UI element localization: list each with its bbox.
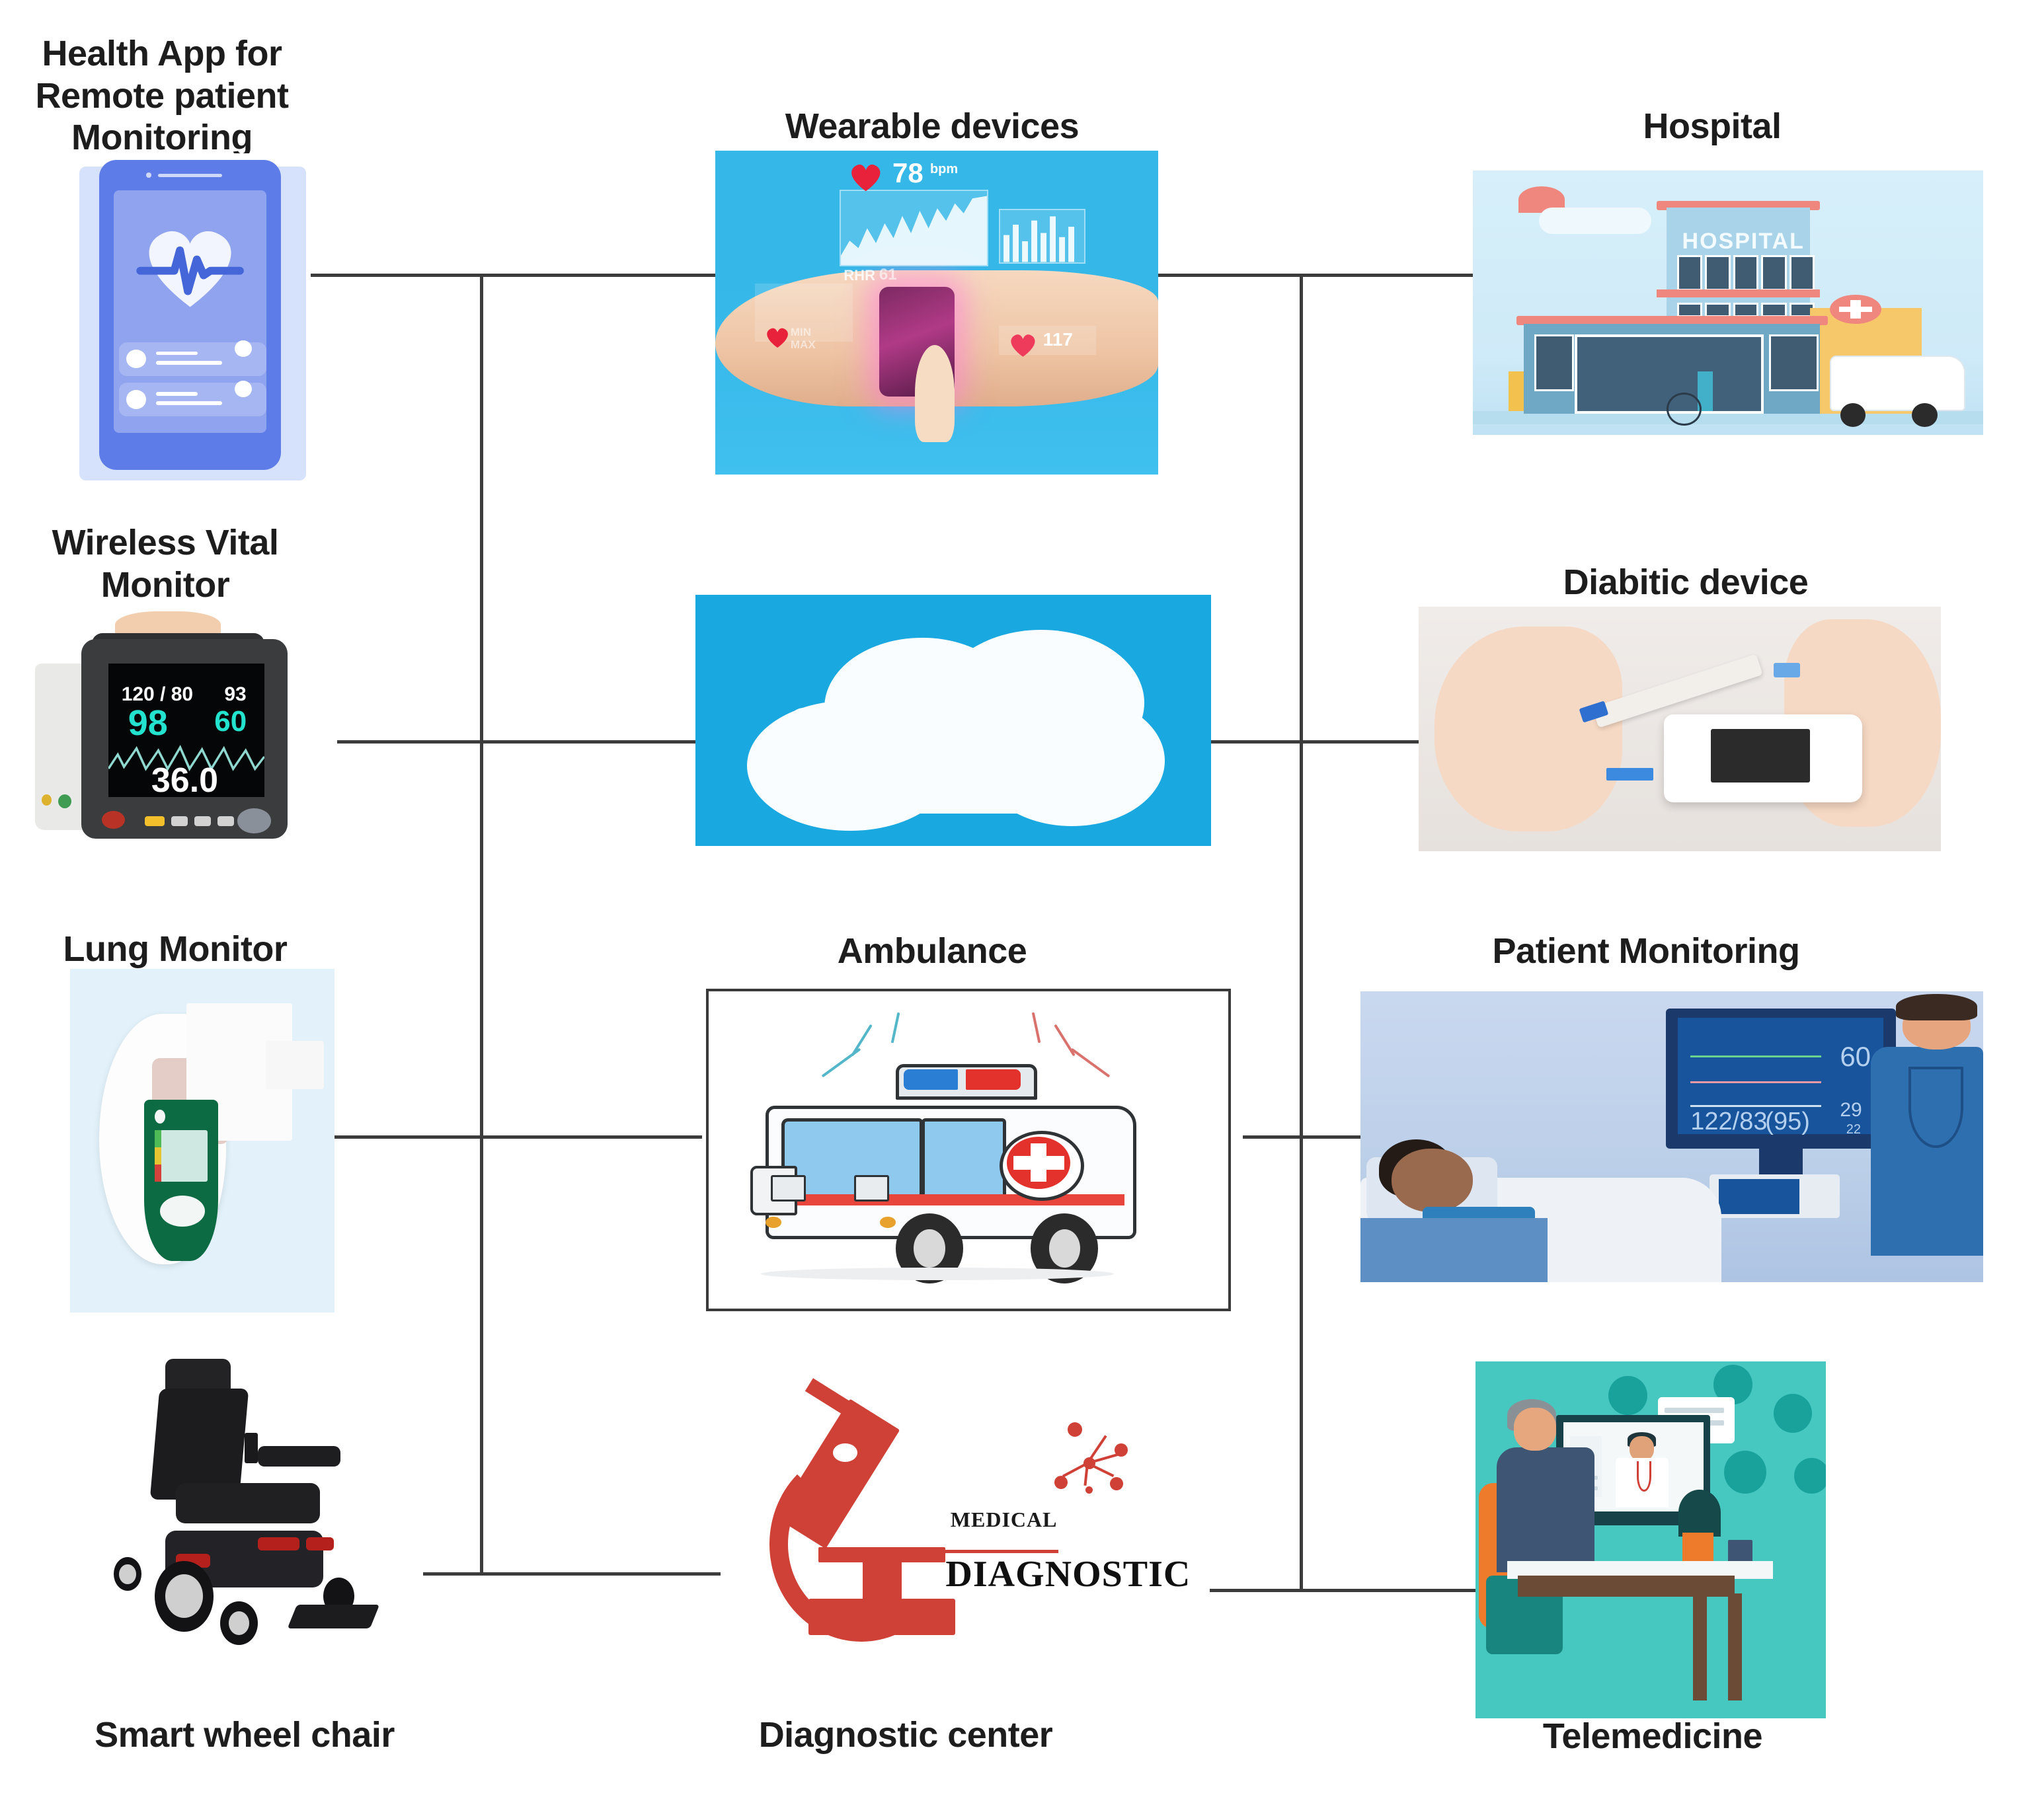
front-wheel-hub: [914, 1229, 945, 1268]
medical-icon: [1794, 1458, 1826, 1494]
hud-minmax-heart: [764, 326, 791, 348]
temperature-value: 36.0: [151, 761, 218, 800]
hospital-image: HOSPITAL: [1473, 171, 1983, 435]
medical-icon: [1774, 1394, 1812, 1433]
resp-trace: [1690, 1105, 1821, 1107]
wheelchair-icon: [1667, 393, 1701, 426]
diagram-canvas: Health App for Remote patient Monitoring…: [0, 0, 2044, 1795]
wire-lungmonitor-to-ambulance: [325, 1135, 702, 1139]
hud-peak-value: 117: [1043, 329, 1073, 350]
footplate: [288, 1605, 379, 1628]
diabetic-device-image: [1419, 607, 1941, 851]
logo-diagnostic-text: DIAGNOSTIC: [945, 1553, 1191, 1595]
wireless-vital-monitor-label: Wireless Vital Monitor: [0, 522, 331, 606]
finger: [915, 345, 955, 442]
drive-wheel-hub: [165, 1574, 203, 1618]
secondary-value: 22: [1846, 1122, 1861, 1137]
pedestrian: [1509, 371, 1524, 411]
base-window-left: [1534, 334, 1574, 391]
mouthpiece-stem: [266, 1041, 324, 1089]
hud-peak-heart: [1007, 332, 1039, 358]
microscope-base: [808, 1599, 955, 1635]
tower-window: [1677, 255, 1702, 291]
base-window-right: [1769, 334, 1819, 391]
app-row-1-line-a: [156, 352, 198, 356]
hud-bars-panel: [999, 209, 1085, 263]
microscope-tube-hole: [833, 1443, 857, 1462]
wire-wearable-to-hospital: [1157, 274, 1474, 277]
heartbeat-icon: [134, 221, 247, 312]
app-row-1-toggle: [235, 340, 252, 358]
caster-rear-hub: [229, 1611, 249, 1635]
ecg-trace: [1690, 1055, 1821, 1057]
glucometer-display: [1711, 729, 1810, 783]
tower-window-small: [1733, 303, 1758, 317]
cross-horizontal: [1013, 1156, 1064, 1170]
molecule-node: [1054, 1476, 1068, 1489]
armrest: [258, 1446, 340, 1467]
diagnostic-center-label: Diagnostic center: [661, 1714, 1150, 1757]
hud-rhr-value: 61: [879, 266, 897, 284]
siren-ray: [891, 1012, 900, 1043]
hud-graph-panel: [840, 190, 988, 267]
ambulance-image: [706, 989, 1231, 1311]
medical-icon: [1724, 1451, 1766, 1494]
patient-monitoring-label: Patient Monitoring: [1395, 931, 1897, 973]
siren-ray: [1071, 1048, 1111, 1077]
plant-leaves: [1678, 1490, 1721, 1536]
tablet-screen: [1719, 1179, 1799, 1214]
headlight: [771, 1175, 806, 1202]
cloud-shape-1: [1539, 208, 1651, 234]
siren-red: [966, 1069, 1021, 1090]
ambulance-wheel: [1912, 403, 1938, 427]
hospital-label: Hospital: [1474, 106, 1950, 148]
telemedicine-image: [1475, 1361, 1826, 1718]
red-cross-sign-icon: [1830, 295, 1881, 324]
freeze-button[interactable]: [194, 816, 211, 826]
medical-icon: [1608, 1376, 1647, 1415]
wearable-label: Wearable devices: [701, 106, 1163, 148]
doctor-hair: [1896, 994, 1977, 1020]
hud-heart-rate-unit: bpm: [930, 162, 958, 177]
tower-band: [1657, 289, 1820, 297]
phone-speaker: [158, 174, 222, 178]
siren-ray: [1031, 1012, 1041, 1043]
app-row-2-line-a: [156, 392, 198, 396]
hud-max-label: MAX: [791, 338, 816, 352]
wearable-image: 78 bpm RHR 61 MIN MAX 117: [715, 151, 1158, 475]
spo2-value: 98: [128, 703, 168, 744]
ambulance-wheel: [1840, 403, 1866, 427]
wireless-vital-monitor-image: 120 / 80 93 98 60 36.0: [5, 603, 337, 880]
hud-heart-rate-value: 78: [892, 157, 924, 189]
logo-medical-text: MEDICAL: [951, 1508, 1058, 1532]
molecule-node-small: [1085, 1486, 1093, 1494]
app-row-1-avatar: [126, 350, 146, 369]
port-yellow: [42, 794, 52, 806]
ambulance-label: Ambulance: [701, 931, 1163, 973]
mean-pressure-value: (95): [1765, 1108, 1810, 1136]
indicator-light: [880, 1217, 896, 1228]
tower-window-small: [1677, 303, 1702, 317]
tower-window-small: [1705, 303, 1730, 317]
left-vertical-bus: [480, 275, 483, 1574]
wire-wheelchair-to-diagnostic: [391, 1572, 728, 1576]
joystick[interactable]: [245, 1433, 258, 1463]
side-stripe: [776, 1194, 1124, 1205]
phone-camera-dot: [146, 172, 151, 178]
rotary-knob[interactable]: [237, 808, 270, 833]
left-hand: [1435, 627, 1622, 832]
telemedicine-label: Telemedicine: [1481, 1716, 1825, 1758]
stethoscope-icon: [1908, 1067, 1963, 1147]
wire-vitalmonitor-to-cloud: [325, 740, 695, 744]
hud-rhr-label: RHR: [844, 267, 875, 284]
patient-body: [1497, 1447, 1594, 1572]
patient-head: [1392, 1149, 1472, 1213]
cloud-image: [695, 595, 1211, 846]
lancet-cap: [1774, 663, 1800, 677]
zone-red: [155, 1165, 161, 1182]
health-app-label: Health App for Remote patient Monitoring: [13, 33, 311, 159]
blood-pressure-value: 122/83: [1690, 1108, 1767, 1136]
diabetic-device-label: Diabitic device: [1454, 562, 1917, 604]
microscope-neck: [863, 1550, 902, 1599]
print-button[interactable]: [217, 816, 234, 826]
spirometer-display: [160, 1130, 208, 1182]
bubble-line: [1665, 1408, 1724, 1413]
zone-yellow: [155, 1147, 161, 1165]
pleth-trace: [1690, 1081, 1821, 1083]
spirometer-button[interactable]: [160, 1196, 205, 1227]
test-strip: [1606, 768, 1653, 781]
patient-head: [1514, 1408, 1556, 1451]
hud-heart-rate-heart: [848, 161, 884, 193]
molecule-node: [1115, 1443, 1128, 1457]
lung-monitor-label: Lung Monitor: [0, 929, 350, 971]
tower-window: [1705, 255, 1730, 291]
accent-panel: [258, 1537, 299, 1550]
desk-leg: [1693, 1593, 1707, 1700]
molecule-node: [1110, 1477, 1123, 1490]
hospital-signage: HOSPITAL: [1682, 229, 1805, 254]
seat: [176, 1483, 320, 1523]
patient-monitoring-image: 60 29 22 122/83 (95): [1360, 991, 1983, 1282]
app-row-1-line-b: [156, 361, 222, 365]
headlight: [854, 1175, 889, 1202]
molecule-node-center: [1083, 1457, 1095, 1469]
siren-blue: [904, 1069, 959, 1090]
accent-panel: [306, 1537, 334, 1550]
bed-frame: [1360, 1218, 1548, 1282]
indicator-light: [766, 1217, 781, 1228]
app-row-2-avatar: [126, 390, 146, 409]
app-row-2-toggle: [235, 381, 252, 398]
health-app-image: [65, 153, 311, 490]
spo2-secondary-value: 93: [224, 683, 246, 706]
siren-ray: [851, 1024, 873, 1057]
stethoscope-icon: [1637, 1461, 1651, 1492]
heart-rate-value: 60: [1840, 1041, 1871, 1073]
desk-leg: [1728, 1593, 1742, 1700]
molecule-node: [1068, 1422, 1082, 1437]
cloud-body: [788, 708, 1118, 814]
smart-wheelchair-image: [79, 1342, 423, 1679]
plant-pot: [1682, 1533, 1714, 1565]
tower-window: [1733, 255, 1758, 291]
menu-button[interactable]: [171, 816, 188, 826]
lung-monitor-image: [70, 969, 334, 1313]
hud-min-label: MIN: [791, 326, 811, 339]
side-window: [922, 1118, 1006, 1201]
tower-window: [1789, 255, 1815, 291]
smart-wheelchair-label: Smart wheel chair: [13, 1714, 476, 1757]
right-vertical-bus: [1300, 275, 1303, 1590]
rear-wheel-hub: [1049, 1229, 1080, 1268]
pulse-value: 60: [214, 705, 247, 738]
ground-shadow: [761, 1268, 1114, 1280]
tower-window-small: [1761, 303, 1786, 317]
zone-green: [155, 1130, 161, 1147]
alarm-button[interactable]: [145, 816, 165, 826]
resp-rate-value: 29: [1840, 1099, 1862, 1122]
power-button[interactable]: [102, 811, 125, 829]
power-led: [155, 1110, 165, 1124]
tower-window: [1761, 255, 1786, 291]
app-row-2-line-b: [156, 401, 222, 405]
diagnostic-center-image: MEDICAL DIAGNOSTIC: [721, 1361, 1210, 1665]
